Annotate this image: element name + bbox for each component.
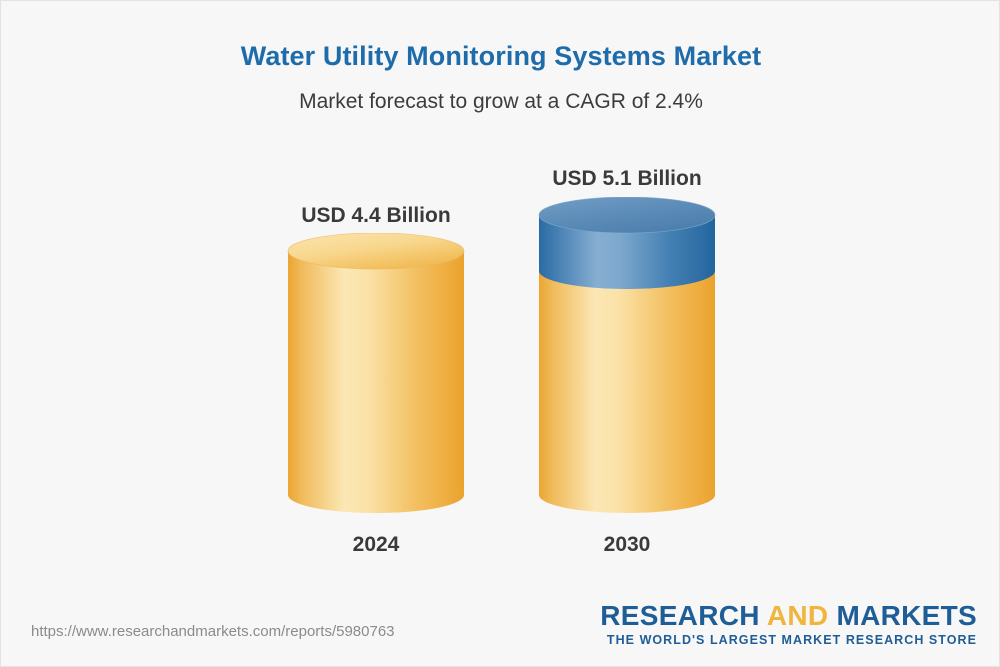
brand-wordmark: RESEARCH AND MARKETS bbox=[600, 601, 977, 630]
plot-area: USD 4.4 Billion bbox=[1, 1, 1000, 601]
brand-wordmark-markets: MARKETS bbox=[828, 600, 977, 631]
value-label-2030: USD 5.1 Billion bbox=[467, 167, 787, 191]
chart-canvas: Water Utility Monitoring Systems Market … bbox=[0, 0, 1000, 667]
brand-wordmark-research: RESEARCH bbox=[600, 600, 767, 631]
category-label-2030: 2030 bbox=[467, 533, 787, 557]
bar-cylinder-2024 bbox=[284, 233, 468, 530]
value-label-2024: USD 4.4 Billion bbox=[216, 204, 536, 228]
brand-tagline: THE WORLD'S LARGEST MARKET RESEARCH STOR… bbox=[600, 633, 977, 647]
source-url[interactable]: https://www.researchandmarkets.com/repor… bbox=[31, 623, 395, 640]
brand-logo: RESEARCH AND MARKETS THE WORLD'S LARGEST… bbox=[600, 601, 977, 647]
bar-cylinder-2030 bbox=[535, 197, 719, 530]
brand-wordmark-and: AND bbox=[767, 600, 829, 631]
